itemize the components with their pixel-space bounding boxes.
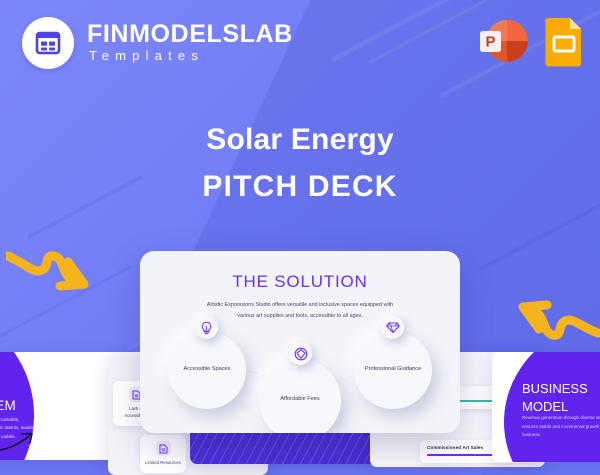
solution-node-label: Professional Guidance [359, 365, 427, 375]
brand-logo[interactable]: FINMODELSLAB Templates [22, 17, 293, 69]
solution-node-0[interactable]: Accessible Spaces [168, 331, 246, 409]
solution-nodes: Accessible Spaces Affordable Fees Profes… [140, 319, 460, 433]
revenue-progress-bar [427, 454, 497, 456]
slide-business-model[interactable]: BUSINESS MODEL Revenue generation throug… [492, 352, 600, 462]
business-body: Revenue generation through diverse strea… [522, 414, 600, 440]
svg-text:P: P [485, 34, 495, 51]
powerpoint-icon[interactable]: P [479, 15, 531, 67]
diamond-icon [381, 316, 404, 339]
business-heading-line-2: MODEL [522, 398, 588, 416]
solution-heading: THE SOLUTION [140, 272, 460, 292]
solution-card[interactable]: THE SOLUTION Artistic Expressions Studio… [140, 251, 460, 433]
solution-node-label: Accessible Spaces [178, 365, 237, 375]
business-heading: BUSINESS MODEL [522, 380, 588, 415]
page-title: Solar Energy PITCH DECK [0, 121, 600, 206]
logo-circle [22, 17, 74, 69]
title-line-2: PITCH DECK [0, 167, 600, 206]
solution-node-2[interactable]: Professional Guidance [354, 331, 432, 409]
document-icon [156, 441, 171, 456]
file-format-icons: P [479, 15, 585, 67]
brand-name: FINMODELSLAB [87, 21, 293, 47]
solution-node-1[interactable]: Affordable Fees [259, 359, 341, 433]
grid-window-icon [35, 30, 61, 56]
business-heading-line-1: BUSINESS [522, 380, 588, 398]
problem-card-1[interactable]: Limited Resources [140, 435, 186, 473]
header: FINMODELSLAB Templates P [0, 0, 600, 96]
solution-node-label: Affordable Fees [274, 395, 325, 405]
brand-subtitle: Templates [87, 47, 293, 65]
squiggly-arrow-up-left-icon [505, 283, 600, 350]
lightbulb-icon [195, 316, 218, 339]
problem-card-label: Limited Resources [145, 460, 181, 467]
google-slides-icon[interactable] [543, 15, 585, 67]
squiggly-arrow-down-right-icon [6, 248, 101, 315]
title-line-1: Solar Energy [0, 121, 600, 159]
brand-text: FINMODELSLAB Templates [87, 21, 293, 65]
gem-circle-icon [289, 342, 312, 365]
problem-heading: THE PROBLEM [0, 398, 16, 413]
curved-arrow-icon [0, 430, 38, 459]
